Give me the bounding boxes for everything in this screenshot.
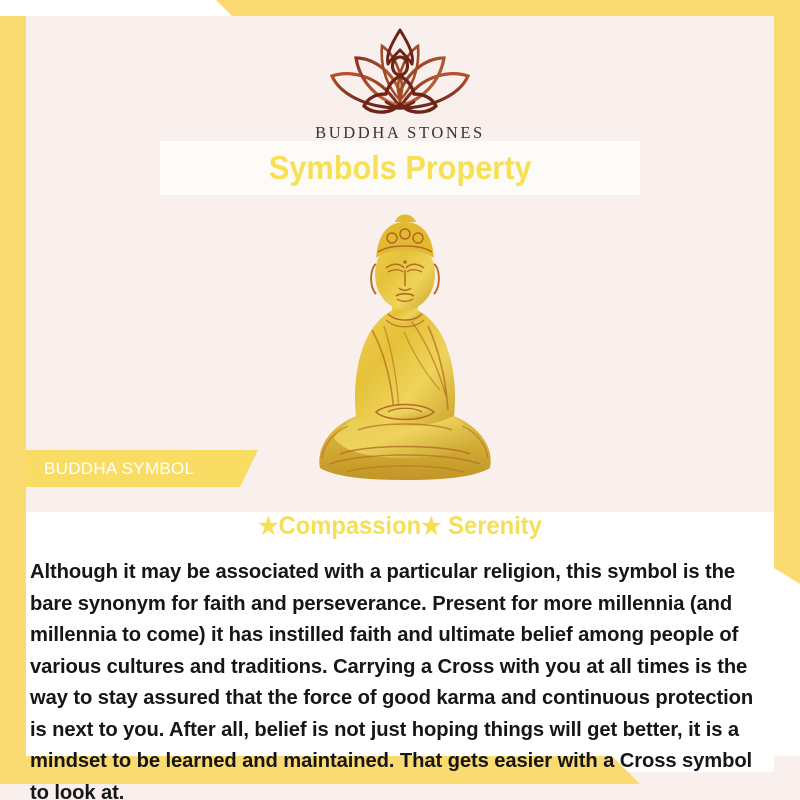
poster-page: BUDDHA STONES Symbols Property [0, 0, 800, 800]
section-headline: ★Compassion★ Serenity [45, 512, 756, 541]
headline-term-two: Serenity [448, 512, 542, 540]
headline-term-one: Compassion [279, 512, 422, 540]
section-tab: BUDDHA SYMBOL [26, 450, 258, 487]
brand-logo: BUDDHA STONES [0, 24, 800, 143]
section-tab-label: BUDDHA SYMBOL [26, 459, 194, 479]
frame-top-bar [0, 0, 800, 16]
brand-name: BUDDHA STONES [0, 123, 800, 143]
body-paragraph: Although it may be associated with a par… [30, 556, 759, 800]
star-icon-right: ★ [421, 513, 441, 540]
title-banner: Symbols Property [160, 141, 640, 195]
buddha-statue-image [300, 200, 510, 490]
star-icon-left: ★ [258, 513, 278, 540]
lotus-meditation-icon [0, 24, 800, 120]
page-title: Symbols Property [269, 149, 532, 187]
